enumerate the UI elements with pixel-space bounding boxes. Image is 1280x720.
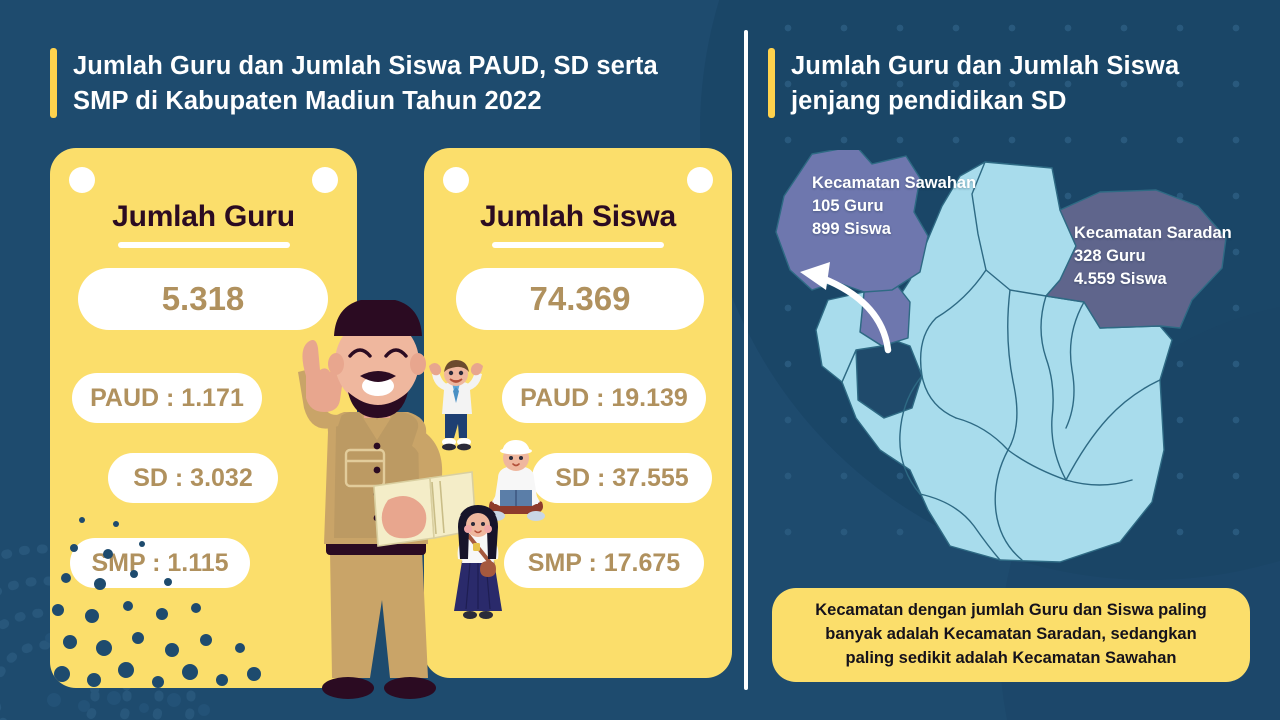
guru-sd-value: SD : 3.032 (108, 453, 278, 503)
guru-paud-value: PAUD : 1.171 (72, 373, 262, 423)
stat-card-jumlah-guru: Jumlah Guru 5.318 PAUD : 1.171 SD : 3.03… (50, 148, 357, 688)
card-hole-icon-right (312, 167, 338, 193)
card-dot-pattern-guru (50, 508, 310, 688)
card-hole-icon-left (69, 167, 95, 193)
card-title-underline-siswa (492, 242, 664, 248)
siswa-sd-value: SD : 37.555 (532, 453, 712, 503)
card-hole-icon-right-siswa (687, 167, 713, 193)
siswa-paud-value: PAUD : 19.139 (502, 373, 706, 423)
right-panel-heading: Jumlah Guru dan Jumlah Siswa jenjang pen… (768, 48, 1248, 118)
card-title-underline-guru (118, 242, 290, 248)
card-title-siswa: Jumlah Siswa (424, 200, 732, 234)
left-panel-heading: Jumlah Guru dan Jumlah Siswa PAUD, SD se… (50, 48, 710, 118)
stat-card-jumlah-siswa: Jumlah Siswa 74.369 PAUD : 19.139 SD : 3… (424, 148, 732, 678)
siswa-total-value: 74.369 (456, 268, 704, 330)
card-title-guru: Jumlah Guru (50, 200, 357, 234)
summary-caption-text: Kecamatan dengan jumlah Guru dan Siswa p… (815, 599, 1207, 671)
guru-total-value: 5.318 (78, 268, 328, 330)
card-hole-icon-left-siswa (443, 167, 469, 193)
map-label-kecamatan-saradan: Kecamatan Saradan 328 Guru 4.559 Siswa (1074, 222, 1232, 290)
map-label-kecamatan-sawahan: Kecamatan Sawahan 105 Guru 899 Siswa (812, 172, 976, 240)
left-heading-text: Jumlah Guru dan Jumlah Siswa PAUD, SD se… (73, 48, 658, 118)
heading-accent-bar-left (50, 48, 57, 118)
heading-accent-bar-right (768, 48, 775, 118)
right-heading-text: Jumlah Guru dan Jumlah Siswa jenjang pen… (791, 48, 1179, 118)
siswa-smp-value: SMP : 17.675 (504, 538, 704, 588)
panel-divider (744, 30, 748, 690)
summary-caption-box: Kecamatan dengan jumlah Guru dan Siswa p… (772, 588, 1250, 682)
infographic-canvas: Jumlah Guru dan Jumlah Siswa PAUD, SD se… (0, 0, 1280, 720)
